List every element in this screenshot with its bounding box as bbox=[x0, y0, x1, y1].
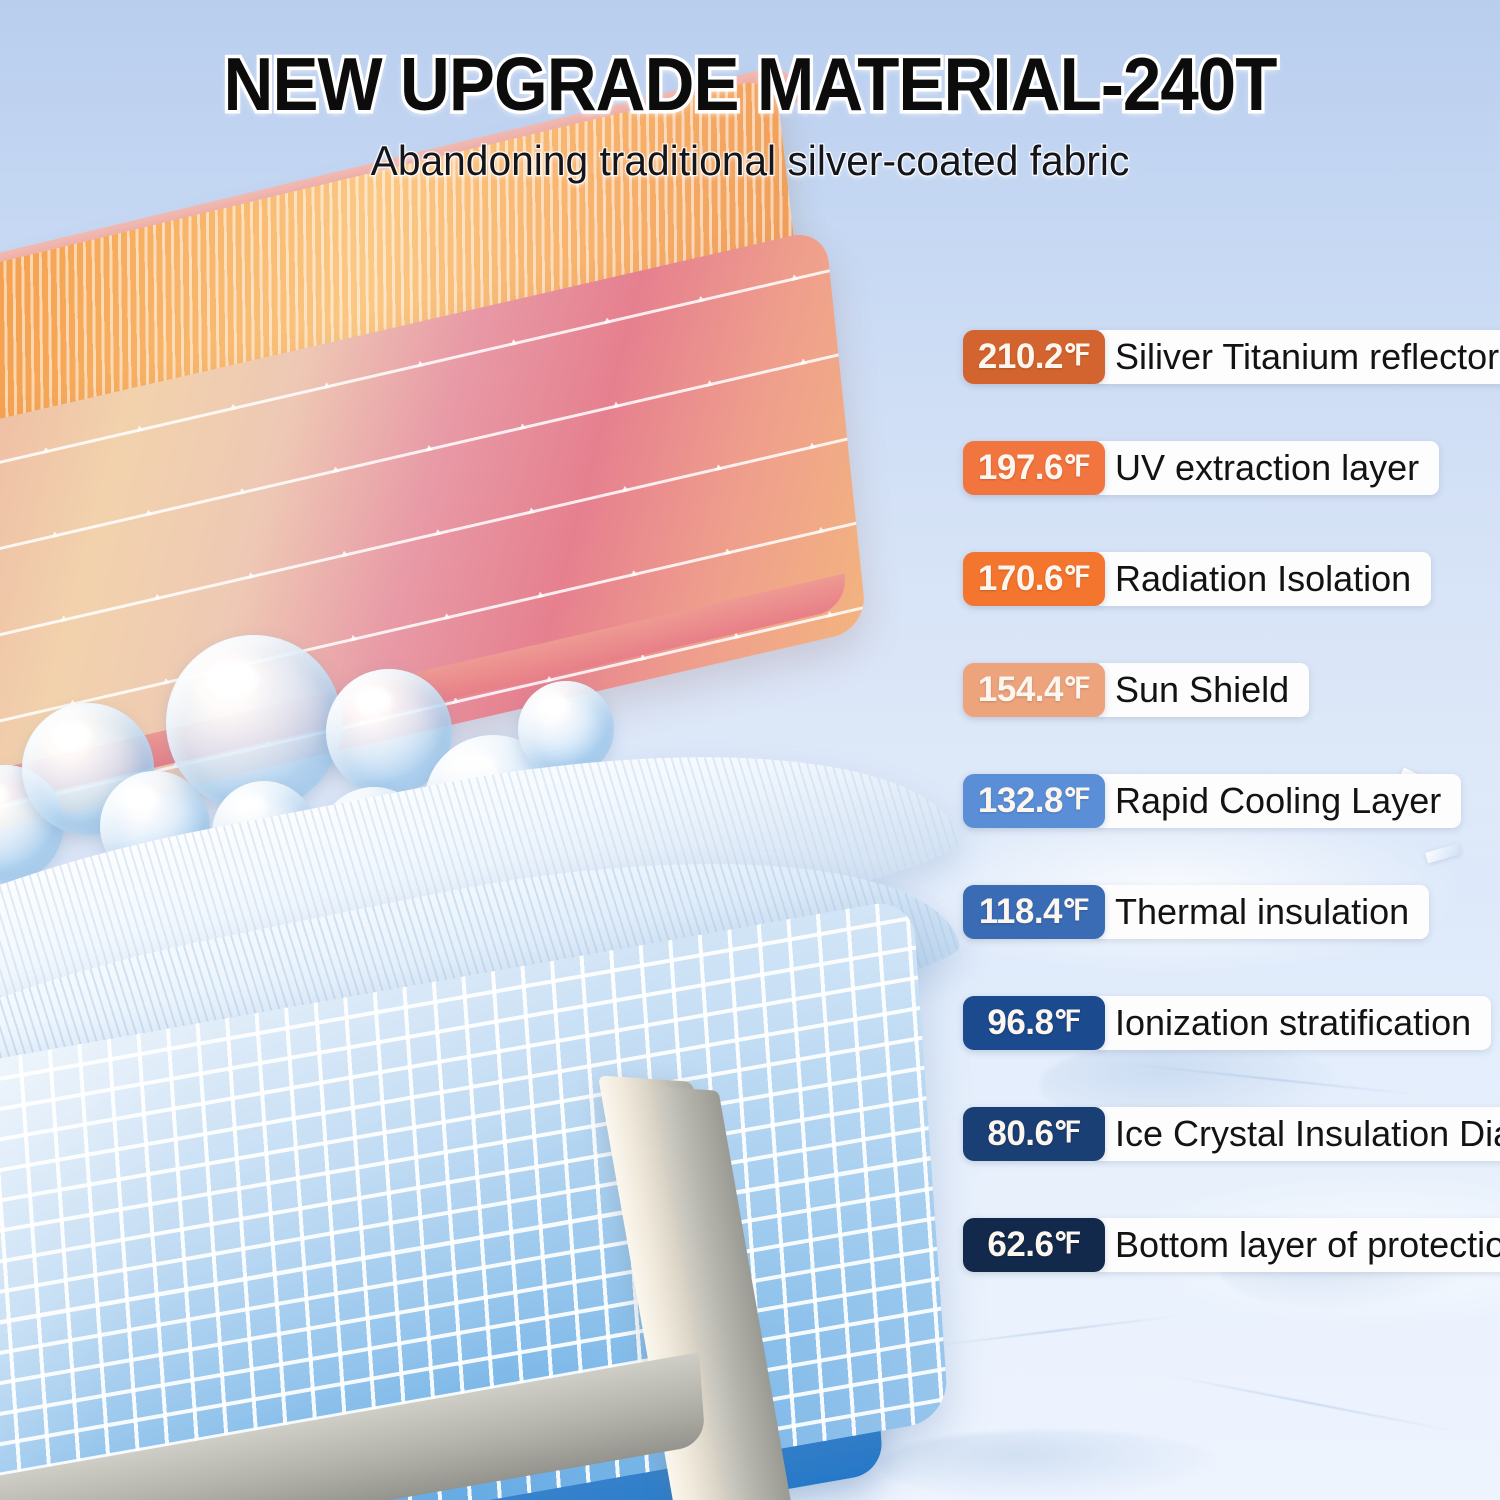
layer-name-label: Bottom layer of protection bbox=[1099, 1218, 1500, 1272]
temperature-value: 118.4 bbox=[979, 894, 1062, 929]
temperature-badge: 96.8℉ bbox=[963, 996, 1105, 1050]
layer-name-label: Ionization stratification bbox=[1099, 996, 1491, 1050]
layer-label-row: 132.8℉Rapid Cooling Layer bbox=[963, 774, 1461, 828]
fabric-layer-illustration bbox=[0, 195, 1000, 1500]
layer-label-row: 197.6℉UV extraction layer bbox=[963, 441, 1439, 495]
temperature-badge: 197.6℉ bbox=[963, 441, 1105, 495]
temperature-value: 154.4 bbox=[978, 672, 1063, 707]
temperature-unit: ℉ bbox=[1054, 1008, 1081, 1037]
temperature-value: 170.6 bbox=[978, 561, 1063, 596]
layer-name-label: UV extraction layer bbox=[1099, 441, 1439, 495]
temperature-unit: ℉ bbox=[1063, 786, 1090, 815]
layer-name-label: Sun Shield bbox=[1099, 663, 1309, 717]
layer-label-row: 80.6℉Ice Crystal Insulation Diagram bbox=[963, 1107, 1500, 1161]
layer-name-label: Rapid Cooling Layer bbox=[1099, 774, 1461, 828]
layer-name-label: Ice Crystal Insulation Diagram bbox=[1099, 1107, 1500, 1161]
layer-label-list: 210.2℉Siliver Titanium reflector197.6℉UV… bbox=[963, 330, 1500, 1272]
layer-name-label: Thermal insulation bbox=[1099, 885, 1429, 939]
temperature-badge: 80.6℉ bbox=[963, 1107, 1105, 1161]
page-title: NEW UPGRADE MATERIAL-240T bbox=[60, 46, 1440, 123]
temperature-badge: 170.6℉ bbox=[963, 552, 1105, 606]
layer-label-row: 62.6℉Bottom layer of protection bbox=[963, 1218, 1500, 1272]
temperature-value: 197.6 bbox=[978, 450, 1063, 485]
temperature-unit: ℉ bbox=[1063, 675, 1090, 704]
layer-name-label: Siliver Titanium reflector bbox=[1099, 330, 1500, 384]
temperature-unit: ℉ bbox=[1063, 342, 1090, 371]
temperature-value: 132.8 bbox=[978, 783, 1063, 818]
page-subtitle: Abandoning traditional silver-coated fab… bbox=[23, 137, 1478, 185]
layer-label-row: 96.8℉Ionization stratification bbox=[963, 996, 1491, 1050]
product-infographic: NEW UPGRADE MATERIAL-240T Abandoning tra… bbox=[0, 0, 1500, 1500]
temperature-value: 96.8 bbox=[987, 1005, 1053, 1040]
temperature-badge: 210.2℉ bbox=[963, 330, 1105, 384]
layer-label-row: 210.2℉Siliver Titanium reflector bbox=[963, 330, 1500, 384]
temperature-badge: 118.4℉ bbox=[963, 885, 1105, 939]
temperature-unit: ℉ bbox=[1063, 564, 1090, 593]
layer-label-row: 154.4℉Sun Shield bbox=[963, 663, 1309, 717]
layer-name-label: Radiation Isolation bbox=[1099, 552, 1431, 606]
temperature-unit: ℉ bbox=[1063, 453, 1090, 482]
temperature-unit: ℉ bbox=[1054, 1119, 1081, 1148]
temperature-unit: ℉ bbox=[1054, 1230, 1081, 1259]
temperature-value: 210.2 bbox=[978, 339, 1063, 374]
temperature-value: 62.6 bbox=[987, 1227, 1053, 1262]
temperature-badge: 62.6℉ bbox=[963, 1218, 1105, 1272]
temperature-value: 80.6 bbox=[987, 1116, 1053, 1151]
temperature-badge: 154.4℉ bbox=[963, 663, 1105, 717]
layer-label-row: 170.6℉Radiation Isolation bbox=[963, 552, 1431, 606]
heading-block: NEW UPGRADE MATERIAL-240T Abandoning tra… bbox=[0, 46, 1500, 185]
layer-label-row: 118.4℉Thermal insulation bbox=[963, 885, 1429, 939]
temperature-badge: 132.8℉ bbox=[963, 774, 1105, 828]
temperature-unit: ℉ bbox=[1062, 897, 1089, 926]
